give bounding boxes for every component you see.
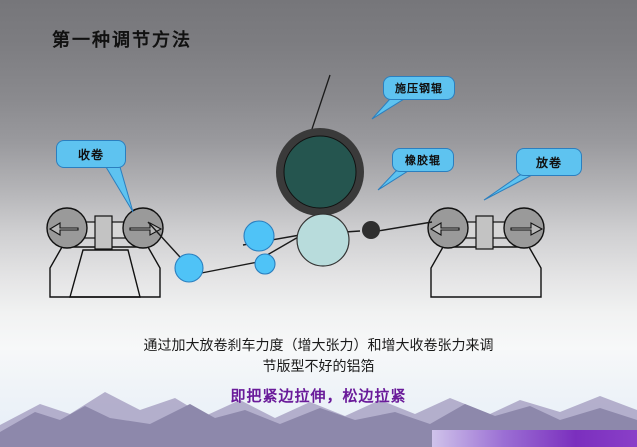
pressure-steel-roller-face (284, 136, 356, 208)
callout-fangjuan-label: 放卷 (536, 154, 562, 171)
machinery-diagram (0, 0, 637, 447)
caption-highlight: 即把紧边拉伸，松边拉紧 (0, 385, 637, 406)
callout-xiangjiao-label: 橡胶辊 (405, 152, 441, 168)
small-dark-roller (362, 221, 380, 239)
right-machine (428, 208, 544, 297)
guide-roller-1 (175, 254, 203, 282)
tail-shoujuan (106, 167, 133, 212)
rubber-roller (297, 214, 349, 266)
tail-fangjuan (484, 175, 532, 200)
web-right-segment (372, 222, 432, 232)
callout-gangun-label: 施压钢辊 (395, 80, 443, 96)
left-connector-block (95, 216, 112, 249)
right-connector-block (476, 216, 493, 249)
tail-xiangjiao (378, 171, 408, 190)
left-machine-base (70, 250, 140, 297)
left-machine-body (50, 247, 160, 297)
callout-fangjuan[interactable]: 放卷 (516, 148, 582, 176)
right-machine-body (431, 247, 541, 297)
left-machine (47, 208, 163, 297)
callout-pressure-steel-roller[interactable]: 施压钢辊 (383, 76, 455, 100)
callout-shoujuan-label: 收卷 (78, 146, 104, 163)
callout-shoujuan[interactable]: 收卷 (56, 140, 126, 168)
guide-roller-3 (255, 254, 275, 274)
caption-line-1: 通过加大放卷刹车力度（增大张力）和增大收卷张力来调 (0, 336, 637, 357)
tail-gangun (372, 99, 404, 119)
caption-line-2: 节版型不好的铝箔 (0, 357, 637, 378)
slide-canvas: 第一种调节方法 (0, 0, 637, 447)
callout-rubber-roller[interactable]: 橡胶辊 (392, 148, 454, 172)
guide-roller-2 (244, 221, 274, 251)
